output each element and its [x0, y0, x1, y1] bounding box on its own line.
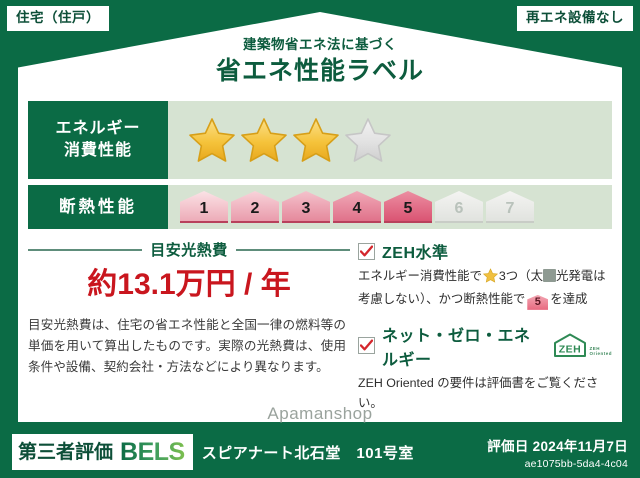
- insulation-chip-filled: 4: [333, 191, 381, 223]
- bels-badge-jp: 第三者評価: [18, 443, 113, 462]
- zeh-level-title: ZEH水準: [382, 239, 449, 263]
- label-title-block: 建築物省エネ法に基づく 省エネ性能ラベル: [0, 38, 640, 85]
- zeh-logo-subtext: ZEH Oriented: [589, 346, 612, 358]
- star-filled-icon: [240, 116, 288, 164]
- zeh-desc-part1: エネルギー消費性能で: [358, 269, 482, 283]
- building-name: スピアナート北石堂 101号室: [202, 442, 414, 463]
- title-subtitle: 建築物省エネ法に基づく: [0, 38, 640, 53]
- lower-columns: 目安光熱費 約13.1万円 / 年 目安光熱費は、住宅の省エネ性能と全国一律の燃…: [28, 239, 612, 426]
- row-energy-performance: エネルギー 消費性能: [28, 101, 612, 179]
- checkmark-icon: [358, 337, 375, 354]
- rule-left: [28, 249, 142, 251]
- bels-badge-en: BELS: [120, 440, 185, 465]
- zeh-column: ZEH水準 エネルギー消費性能で3つ（太光発電は考慮しない）、かつ断熱性能で5を…: [350, 239, 612, 426]
- utility-cost-amount: 約13.1万円 / 年: [28, 268, 350, 301]
- evaluation-date: 評価日 2024年11月7日: [487, 435, 628, 455]
- energy-performance-label: 住宅（住戸） 再エネ設備なし 建築物省エネ法に基づく 省エネ性能ラベル エネルギ…: [0, 0, 640, 478]
- redacted-character: [543, 269, 556, 282]
- insulation-label-cell: 断熱性能: [28, 185, 168, 229]
- checkmark-icon: [358, 243, 375, 260]
- utility-cost-heading: 目安光熱費: [150, 239, 228, 260]
- star-filled-icon: [292, 116, 340, 164]
- utility-cost-heading-row: 目安光熱費: [28, 239, 350, 260]
- net-zero-description: ZEH Oriented の要件は評価書をご覧ください。: [358, 374, 612, 414]
- rule-right: [236, 249, 350, 251]
- insulation-level-chips: 1234567: [180, 191, 534, 223]
- tag-dwelling-type: 住宅（住戸）: [7, 6, 109, 31]
- insulation-value-cell: 1234567: [168, 185, 612, 229]
- star-filled-icon: [188, 116, 236, 164]
- title-main: 省エネ性能ラベル: [0, 58, 640, 86]
- row-insulation-performance: 断熱性能 1234567: [28, 185, 612, 229]
- insulation-chip-filled: 3: [282, 191, 330, 223]
- zeh-level-title-row: ZEH水準: [358, 239, 612, 263]
- star-empty-icon: [344, 116, 392, 164]
- insulation-chip-filled: 1: [180, 191, 228, 223]
- zeh-level-description: エネルギー消費性能で3つ（太光発電は考慮しない）、かつ断熱性能で5を達成: [358, 267, 612, 310]
- energy-label-line1: エネルギー: [55, 118, 140, 140]
- insulation-chip-filled: 2: [231, 191, 279, 223]
- inline-star-icon: [483, 272, 498, 286]
- zeh-level-block: ZEH水準 エネルギー消費性能で3つ（太光発電は考慮しない）、かつ断熱性能で5を…: [358, 239, 612, 310]
- zeh-desc-part2: 3つ（太: [499, 269, 543, 283]
- net-zero-energy-block: ネット・ゼロ・エネルギー ZEH ZEH Oriented: [358, 322, 612, 414]
- footer-bar: 第三者評価 BELS スピアナート北石堂 101号室 評価日 2024年11月7…: [0, 426, 640, 478]
- net-zero-title: ネット・ゼロ・エネルギー: [382, 322, 544, 370]
- bels-badge: 第三者評価 BELS: [8, 434, 193, 470]
- utility-cost-column: 目安光熱費 約13.1万円 / 年 目安光熱費は、住宅の省エネ性能と全国一律の燃…: [28, 239, 350, 426]
- net-zero-title-row: ネット・ゼロ・エネルギー ZEH ZEH Oriented: [358, 322, 612, 370]
- footer-right-block: 評価日 2024年11月7日 ae1075bb-5da4-4c04: [487, 435, 628, 470]
- utility-cost-note: 目安光熱費は、住宅の省エネ性能と全国一律の燃料等の単価を用いて算出したものです。…: [28, 315, 350, 377]
- tag-renewable-equipment: 再エネ設備なし: [517, 6, 633, 31]
- energy-label-line2: 消費性能: [64, 140, 132, 162]
- star-rating: [188, 116, 392, 164]
- insulation-chip-empty: 6: [435, 191, 483, 223]
- svg-text:ZEH: ZEH: [559, 344, 582, 356]
- insulation-chip-filled: 5: [384, 191, 432, 223]
- zeh-logo-sub-line2: Oriented: [589, 351, 612, 356]
- label-content: エネルギー 消費性能 断熱性能 1234567 目安光熱費 約13.1万: [28, 101, 612, 426]
- evaluation-id: ae1075bb-5da4-4c04: [487, 458, 628, 470]
- zeh-desc-part4: を達成: [550, 292, 587, 306]
- zeh-logo: ZEH ZEH Oriented: [553, 333, 612, 358]
- energy-performance-value-cell: [168, 101, 612, 179]
- inline-insulation-chip: 5: [527, 295, 548, 310]
- energy-performance-label-cell: エネルギー 消費性能: [28, 101, 168, 179]
- insulation-chip-empty: 7: [486, 191, 534, 223]
